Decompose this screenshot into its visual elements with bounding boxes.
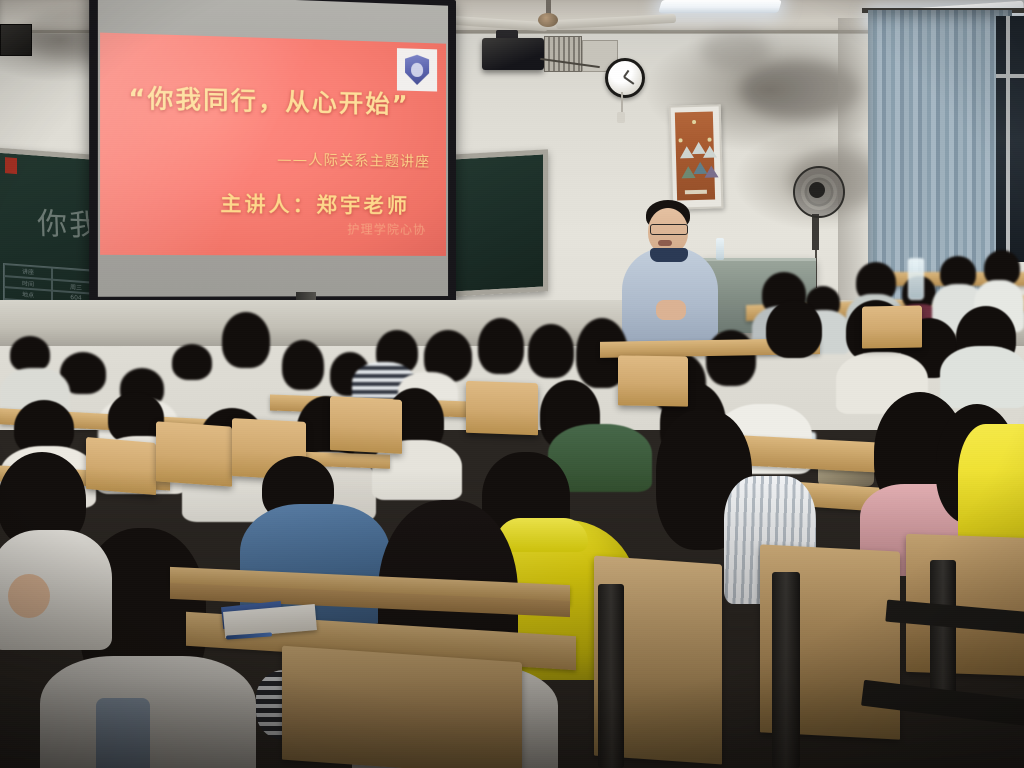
slide-subtitle: ——人际关系主题讲座: [277, 149, 430, 172]
folding-auditorium-seat[interactable]: [862, 305, 922, 348]
folding-auditorium-seat[interactable]: [618, 355, 688, 406]
framed-wall-poster: [669, 104, 724, 209]
blackboard-right: [448, 149, 548, 297]
fan-hub: [809, 182, 825, 198]
glasses-icon: [650, 224, 688, 235]
presenter: [620, 200, 730, 350]
ceiling-fan-icon: [538, 13, 558, 27]
seat-post: [600, 690, 624, 768]
presentation-slide: “你我同行，从心开始” ——人际关系主题讲座 主讲人：郑宇老师 护理学院心协: [100, 33, 446, 256]
denim-overall-strap: [96, 698, 150, 768]
poster-artwork: [675, 112, 715, 201]
student-left-edge: [0, 452, 120, 652]
student-head: [10, 336, 50, 372]
folding-auditorium-seat[interactable]: [282, 646, 522, 768]
shield-icon: [405, 54, 429, 85]
presenter-mouth: [658, 240, 672, 246]
av-speaker-icon: [482, 38, 544, 70]
student-head: [282, 340, 324, 390]
window: [996, 16, 1024, 262]
presenter-collar: [650, 248, 688, 262]
wall-clock-icon: [605, 58, 645, 98]
presenter-hands: [656, 300, 686, 320]
student-head: [172, 344, 212, 380]
folding-auditorium-seat[interactable]: [330, 396, 402, 454]
fan-bracket: [812, 214, 819, 250]
seat-post: [772, 572, 800, 768]
slide-speaker-line: 主讲人：郑宇老师: [220, 187, 410, 219]
water-bottle: [908, 258, 924, 300]
student-head: [222, 312, 270, 368]
folding-auditorium-seat[interactable]: [156, 421, 232, 486]
board-marker: [5, 157, 17, 174]
presenter-shirt: [622, 248, 718, 344]
student-head: [528, 324, 574, 378]
wall-plug: [617, 112, 625, 123]
slide-title: “你我同行，从心开始”: [128, 77, 418, 120]
student-head: [478, 318, 524, 374]
student-head: [766, 300, 822, 358]
projection-screen: “你我同行，从心开始” ——人际关系主题讲座 主讲人：郑宇老师 护理学院心协: [89, 0, 456, 303]
clock-minute-hand: [623, 76, 634, 85]
corner-speaker-icon: [0, 24, 32, 56]
window-frame: [1006, 16, 1010, 262]
speaker-grill: [544, 36, 582, 72]
window-frame: [996, 74, 1024, 78]
raised-hand: [8, 574, 50, 618]
wall-stain: [700, 30, 770, 70]
fluorescent-tube-light: [658, 0, 782, 13]
lecture-hall-photo: 你我 讲座 时间 周三 地点 604 主题 沟通 主持 郑老师 “你我同行，从心…: [0, 0, 1024, 768]
slide-organizer: 护理学院心协: [347, 220, 426, 238]
folding-auditorium-seat[interactable]: [466, 381, 538, 436]
